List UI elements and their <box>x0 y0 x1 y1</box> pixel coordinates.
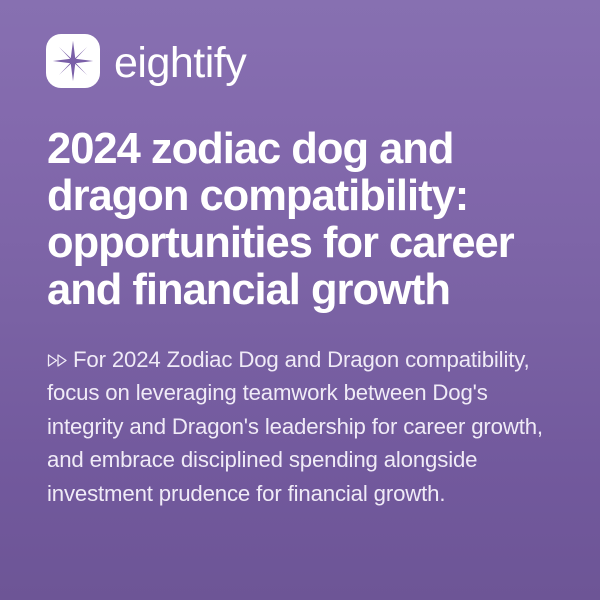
brand-wordmark: eightify <box>114 42 246 85</box>
page-title: 2024 zodiac dog and dragon compatibility… <box>47 126 567 314</box>
brand-header: eightify <box>46 34 246 88</box>
summary-card: eightify 2024 zodiac dog and dragon comp… <box>0 0 600 600</box>
eight-point-star-icon <box>52 40 94 82</box>
summary-text: For 2024 Zodiac Dog and Dragon compatibi… <box>47 347 543 506</box>
eightify-logo <box>46 34 100 88</box>
summary-text-block: For 2024 Zodiac Dog and Dragon compatibi… <box>47 343 561 510</box>
fast-forward-icon <box>47 353 68 368</box>
